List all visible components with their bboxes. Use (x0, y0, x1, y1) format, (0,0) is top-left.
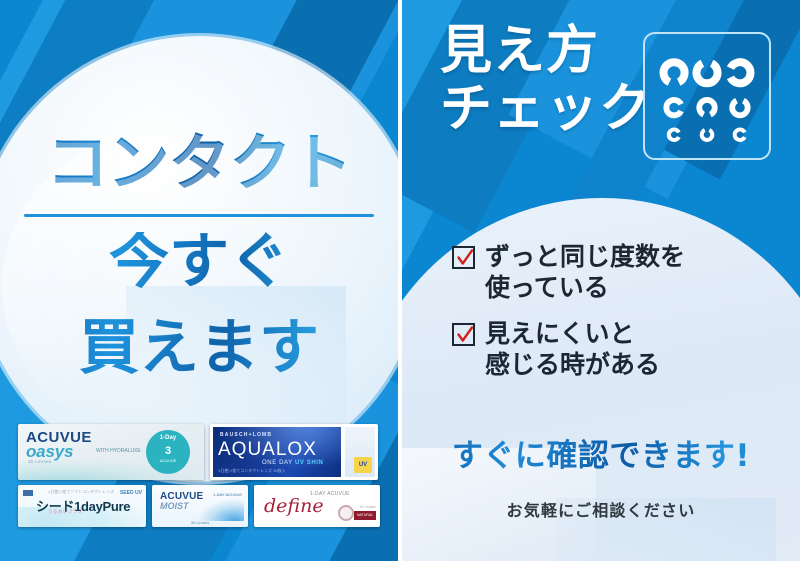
product-row-bottom: 1日使い捨てソフトコンタクトレンズ シード1dayPure SEED UV うる… (18, 485, 380, 527)
product-box-acuvue-define: 1-DAY ACUVUE define 30 Lenses NATURAL (254, 485, 380, 527)
seed-maker-tag (23, 490, 33, 496)
product-box-aqualox: BAUSCH+LOMB AQUALOX ONE DAY UV SHIN 1日使い… (210, 424, 378, 480)
cta-text: すぐに確認できます! (402, 430, 800, 475)
landolt-ring-2-2-gap-right (735, 129, 745, 140)
landolt-ring-0-0-gap-bottom (664, 62, 685, 82)
product-side-fine: SEED UV (120, 490, 142, 496)
checklist-item-label-0: ずっと同じ度数を使っている (485, 242, 685, 303)
badge-big-label: 3 (146, 445, 190, 457)
product-brand-fine: WITH HYDRALUXE (96, 448, 141, 454)
landolt-ring-1-1-gap-bottom (699, 100, 714, 115)
checklist-item-label-1: 見えにくいと感じる時がある (485, 319, 660, 380)
define-lens-graphic (338, 505, 354, 521)
landolt-ring-0-1-gap-top (696, 63, 717, 83)
checklist-item[interactable]: ずっと同じ度数を使っている (452, 242, 782, 303)
product-subtitle-left: ONE DAY (262, 460, 293, 466)
landolt-ring-1-2-gap-top (732, 101, 747, 116)
section-title: 見え方 チェック (440, 22, 652, 138)
product-fine-print: 1日使い捨てコンタクトレンズ 30枚入 (218, 468, 286, 474)
product-brand-main: define (264, 495, 324, 517)
product-brand-main: AQUALOX (218, 439, 317, 461)
product-count: 30 Lenses (360, 505, 376, 509)
product-box-acuvue-moist: ACUVUE MOIST 1-DAY ACUVUE 30 Lenses (152, 485, 248, 527)
headline-can-buy: 買えます (0, 318, 398, 379)
checkbox-checked[interactable] (452, 246, 475, 269)
oasys-badge: 1-Day 3 ACUVUE (146, 430, 190, 474)
checklist-item[interactable]: 見えにくいと感じる時がある (452, 319, 782, 380)
checkbox-checked[interactable] (452, 323, 475, 346)
product-fine-print: 1日使い捨てソフトコンタクトレンズ (48, 489, 114, 495)
product-count: 30 Lenses (152, 520, 248, 525)
product-subtitle-right: UV SHIN (295, 460, 324, 466)
symptom-checklist: ずっと同じ度数を使っている 見えにくいと感じる時がある (452, 242, 782, 396)
section-title-line1: 見え方 (440, 22, 652, 80)
uv-badge: UV (354, 457, 372, 473)
product-brand-main: MOIST (160, 501, 189, 511)
landolt-ring-1-0-gap-right (666, 100, 681, 115)
define-color-bar: NATURAL (354, 511, 376, 520)
section-title-line2: チェック (440, 80, 652, 138)
landolt-ring-2-1-gap-top (702, 130, 713, 140)
product-box-seed-1day-pure: 1日使い捨てソフトコンタクトレンズ シード1dayPure SEED UV うる… (18, 485, 146, 527)
landolt-ring-0-2-gap-left (730, 62, 750, 83)
product-side-fine: 1-DAY ACUVUE (213, 492, 242, 497)
badge-top-label: 1-Day (146, 435, 190, 441)
product-count: 30 Lenses (28, 459, 51, 464)
landolt-c-eye-chart-icon (643, 32, 771, 160)
note-text: お気軽にご相談ください (402, 497, 800, 521)
product-box-acuvue-oasys: ACUVUE oasys WITH HYDRALUXE 30 Lenses 1-… (18, 424, 204, 480)
checklist-line: ずっと同じ度数を (485, 242, 685, 273)
checklist-line: 見えにくいと (485, 319, 660, 350)
product-box-gallery: ACUVUE oasys WITH HYDRALUXE 30 Lenses 1-… (18, 424, 380, 527)
define-bar-label: NATURAL (354, 511, 376, 520)
left-panel: コンタクト 今すぐ 買えます ACUVUE oasys WITH HYDRALU… (0, 0, 398, 561)
product-accent-line: うるおいプラス (48, 509, 83, 515)
poster-root: コンタクト 今すぐ 買えます ACUVUE oasys WITH HYDRALU… (0, 0, 800, 561)
badge-small-label: ACUVUE (146, 458, 190, 463)
product-subtitle: ONE DAY UV SHIN (262, 460, 323, 466)
acuvue-swoosh-graphic (198, 499, 244, 521)
checklist-line: 使っている (485, 273, 685, 304)
check-mark-icon (455, 248, 475, 268)
headline-now: 今すぐ (0, 232, 398, 293)
headline-contact: コンタクト (0, 132, 398, 194)
landolt-ring-2-0-gap-right (669, 129, 679, 140)
headline-divider (24, 214, 374, 217)
checklist-line: 感じる時がある (485, 350, 660, 381)
product-maker: BAUSCH+LOMB (220, 432, 272, 438)
check-mark-icon (455, 325, 475, 345)
product-row-top: ACUVUE oasys WITH HYDRALUXE 30 Lenses 1-… (18, 424, 380, 480)
